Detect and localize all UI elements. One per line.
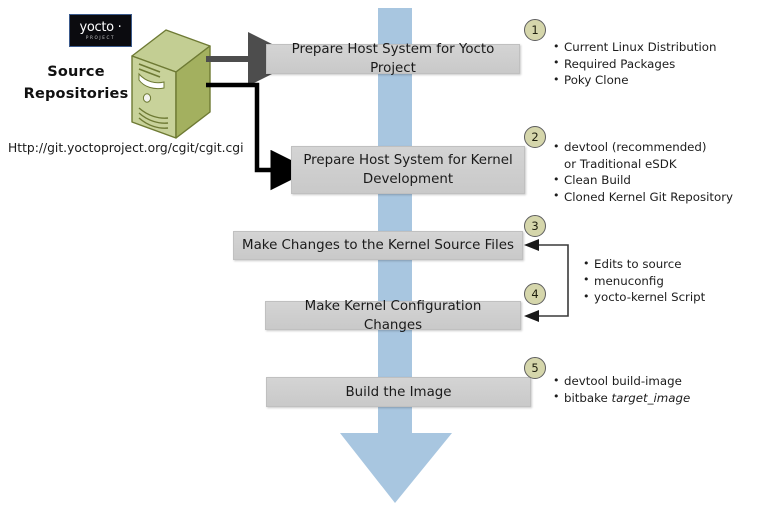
steps-3-4-notes-list: Edits to source menuconfig yocto-kernel … bbox=[583, 256, 705, 306]
process-box-prepare-host-yocto[interactable]: Prepare Host System for Yocto Project bbox=[266, 44, 520, 74]
diagram-canvas: yocto · PROJECT Source Repositories Http… bbox=[0, 0, 769, 517]
process-box-label: Make Changes to the Kernel Source Files bbox=[242, 236, 514, 255]
step2-notes-list: devtool (recommended) or Traditional eSD… bbox=[553, 139, 733, 205]
step-number: 5 bbox=[531, 361, 538, 375]
step-number: 2 bbox=[531, 130, 538, 144]
step-circle-3: 3 bbox=[524, 215, 546, 237]
process-box-label: Make Kernel Configuration Changes bbox=[274, 297, 512, 335]
list-item: Poky Clone bbox=[553, 72, 716, 89]
list-item: yocto-kernel Script bbox=[583, 289, 705, 306]
step-circle-4: 4 bbox=[524, 283, 546, 305]
list-item: Cloned Kernel Git Repository bbox=[553, 189, 733, 206]
command-prefix: bitbake bbox=[564, 391, 612, 405]
process-box-make-kernel-config-changes[interactable]: Make Kernel Configuration Changes bbox=[265, 301, 521, 330]
step-circle-1: 1 bbox=[524, 19, 546, 41]
yocto-project-logo: yocto · PROJECT bbox=[69, 14, 132, 47]
list-item: Clean Build bbox=[553, 172, 733, 189]
list-item: devtool (recommended) or Traditional eSD… bbox=[553, 139, 719, 172]
step-circle-5: 5 bbox=[524, 357, 546, 379]
step1-notes-list: Current Linux Distribution Required Pack… bbox=[553, 39, 716, 89]
step-number: 1 bbox=[531, 23, 538, 37]
list-item: Edits to source bbox=[583, 256, 705, 273]
process-box-prepare-host-kernel[interactable]: Prepare Host System for Kernel Developme… bbox=[291, 146, 525, 194]
process-box-make-changes-kernel-source[interactable]: Make Changes to the Kernel Source Files bbox=[233, 231, 523, 260]
list-item: devtool build-image bbox=[553, 373, 690, 390]
logo-sub-text: PROJECT bbox=[86, 36, 115, 40]
source-repository-url: Http://git.yoctoproject.org/cgit/cgit.cg… bbox=[8, 141, 244, 155]
step5-notes-list: devtool build-image bitbake target_image bbox=[553, 373, 690, 406]
server-tower-icon bbox=[130, 28, 212, 140]
logo-main-text: yocto · bbox=[79, 21, 121, 34]
bracket-steps-3-and-4 bbox=[524, 239, 568, 322]
list-item: Current Linux Distribution bbox=[553, 39, 716, 56]
step-circle-2: 2 bbox=[524, 126, 546, 148]
command-argument: target_image bbox=[612, 391, 691, 405]
step-number: 3 bbox=[531, 219, 538, 233]
process-box-build-the-image[interactable]: Build the Image bbox=[266, 377, 531, 407]
source-repositories-label: Source Repositories bbox=[16, 61, 136, 105]
list-item: Required Packages bbox=[553, 56, 716, 73]
list-item: bitbake target_image bbox=[553, 390, 690, 407]
step-number: 4 bbox=[531, 287, 538, 301]
arrow-server-to-step2 bbox=[206, 85, 275, 170]
process-box-label: Build the Image bbox=[345, 383, 451, 402]
list-item: menuconfig bbox=[583, 273, 705, 290]
process-box-label: Prepare Host System for Kernel Developme… bbox=[300, 151, 516, 189]
process-box-label: Prepare Host System for Yocto Project bbox=[275, 40, 511, 78]
